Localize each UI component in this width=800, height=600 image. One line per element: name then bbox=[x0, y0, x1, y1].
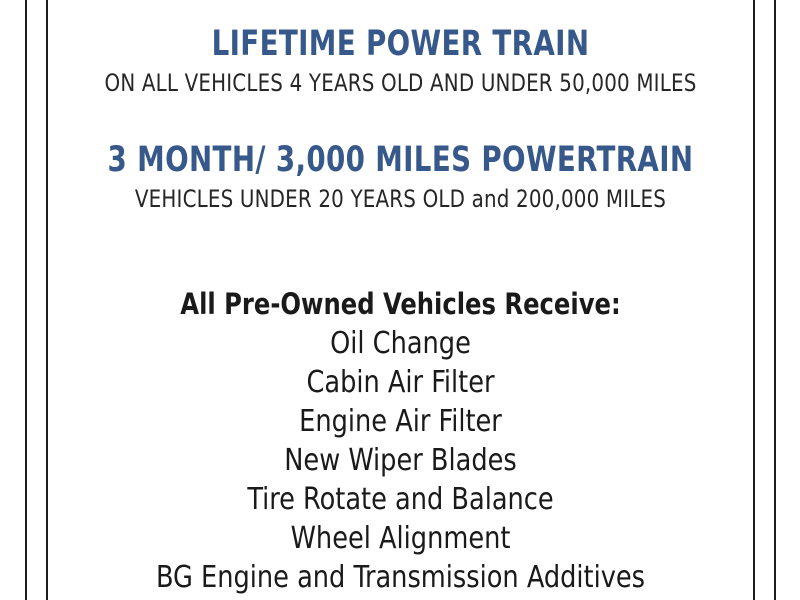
warranty-flyer: LIFETIME POWER TRAIN ON ALL VEHICLES 4 Y… bbox=[0, 0, 800, 600]
border-rule-left-outer bbox=[25, 0, 27, 600]
list-item: Cabin Air Filter bbox=[66, 363, 736, 402]
warranty-headline-lifetime: LIFETIME POWER TRAIN bbox=[90, 24, 710, 64]
border-rule-right-inner bbox=[753, 0, 755, 600]
list-item: BG Engine and Transmission Additives bbox=[66, 558, 736, 597]
warranty-block-three-month: 3 MONTH/ 3,000 MILES POWERTRAIN VEHICLES… bbox=[48, 98, 753, 214]
list-item: Tire Rotate and Balance bbox=[66, 480, 736, 519]
warranty-subline-lifetime: ON ALL VEHICLES 4 YEARS OLD AND UNDER 50… bbox=[76, 68, 725, 98]
warranty-headline-three-month: 3 MONTH/ 3,000 MILES POWERTRAIN bbox=[90, 140, 710, 180]
warranty-subline-three-month: VEHICLES UNDER 20 YEARS OLD and 200,000 … bbox=[76, 184, 725, 214]
list-item: Wheel Alignment bbox=[66, 519, 736, 558]
list-item: Engine Air Filter bbox=[66, 402, 736, 441]
list-item: New Wiper Blades bbox=[66, 441, 736, 480]
warranty-block-lifetime: LIFETIME POWER TRAIN ON ALL VEHICLES 4 Y… bbox=[48, 0, 753, 98]
flyer-content: LIFETIME POWER TRAIN ON ALL VEHICLES 4 Y… bbox=[48, 0, 753, 600]
list-item: Oil Change bbox=[66, 324, 736, 363]
services-section-title: All Pre-Owned Vehicles Receive: bbox=[73, 284, 729, 324]
border-rule-right-outer bbox=[774, 0, 776, 600]
services-list: Oil Change Cabin Air Filter Engine Air F… bbox=[48, 324, 753, 597]
services-section: All Pre-Owned Vehicles Receive: Oil Chan… bbox=[48, 214, 753, 597]
